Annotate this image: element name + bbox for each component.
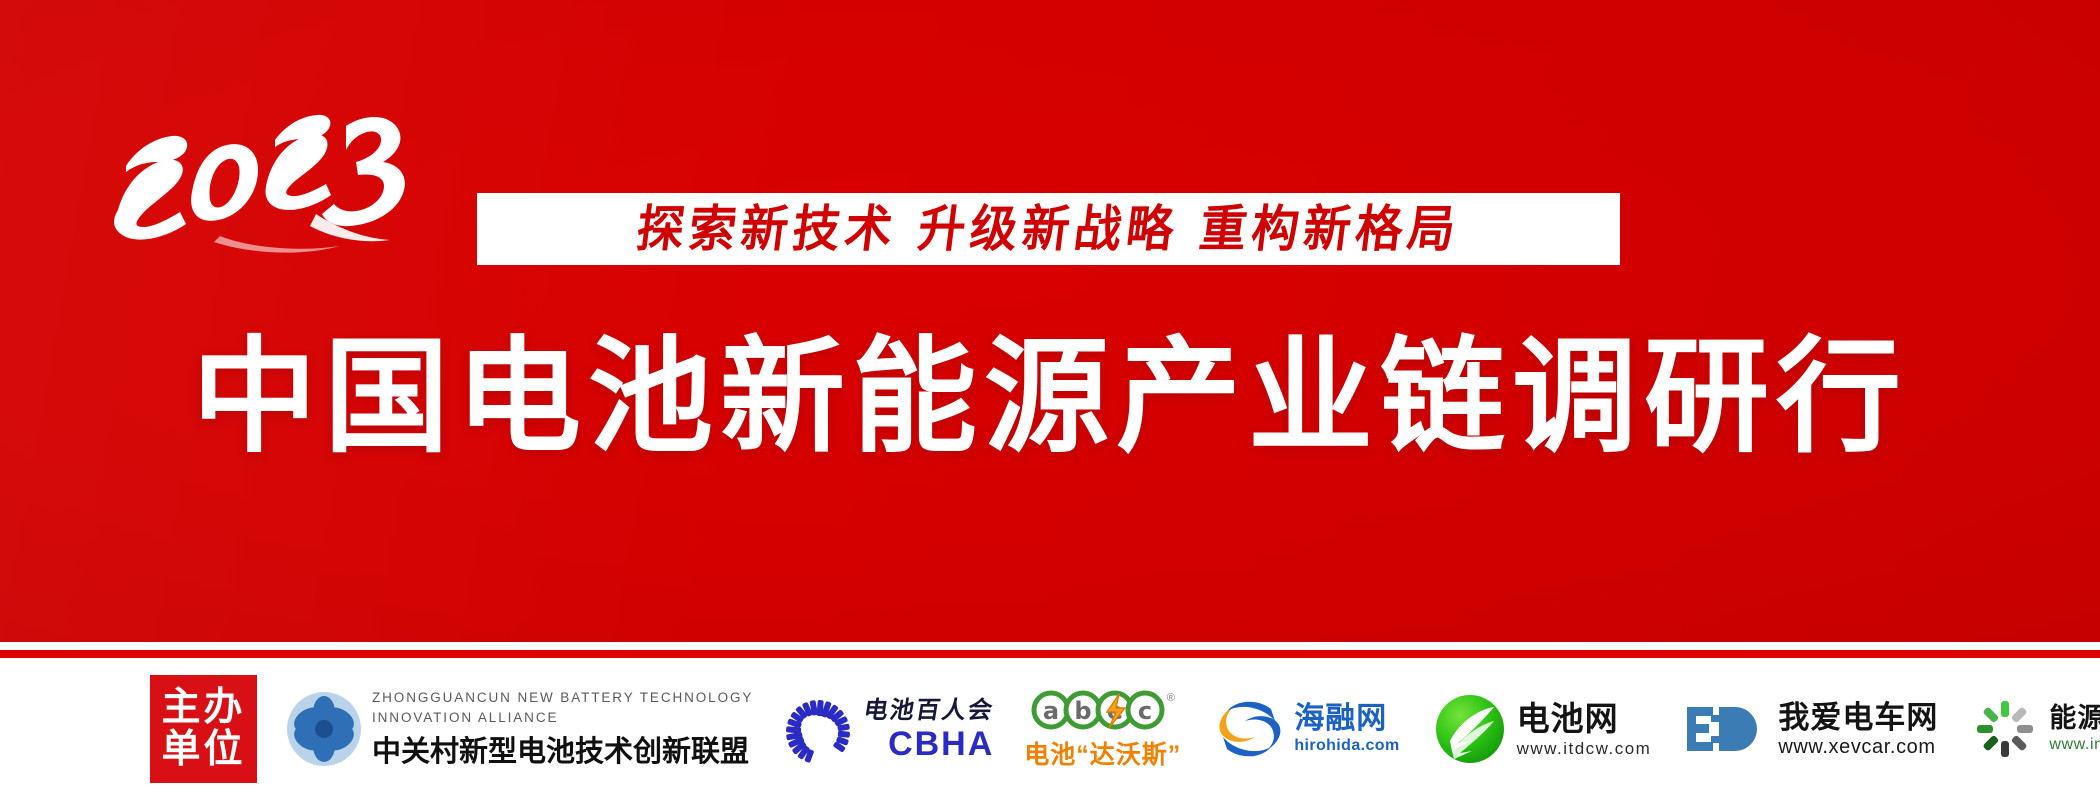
sponsor-logo-hirohida[interactable]: 海融网 hirohida.com [1213, 693, 1399, 765]
radial-burst-icon [781, 692, 855, 766]
cbha-en-name: CBHA [864, 727, 994, 761]
sponsor-logo-xevcar[interactable]: 我爱电车网 www.xevcar.com [1683, 697, 1938, 761]
svg-text:a: a [1043, 697, 1059, 725]
abec-trademark-icon: ® [1167, 692, 1175, 704]
sponsor-logo-zgc-alliance[interactable]: ZHONGGUANCUN NEW BATTERY TECHNOLOGY INNO… [285, 688, 753, 770]
zgc-en-line1: ZHONGGUANCUN NEW BATTERY TECHNOLOGY [372, 688, 753, 708]
hirohida-cn-name: 海融网 [1294, 704, 1399, 734]
event-banner: 探索新技术 升级新战略 重构新格局 中国电池新能源产业链调研行 主办 单位 [0, 0, 2100, 800]
tagline-box: 探索新技术 升级新战略 重构新格局 [477, 193, 1620, 265]
green-sphere-arrow-icon [1432, 691, 1508, 767]
spinner-dots-icon [1970, 694, 2040, 764]
svg-text:c: c [1138, 697, 1152, 725]
sponsor-footer-bar: 主办 单位 ZHO [0, 658, 2100, 800]
sponsor-logo-inewenergy[interactable]: 能源财经网 www.inewenergy.com [1970, 694, 2100, 764]
sponsor-logo-cbha[interactable]: 电池百人会 CBHA [781, 692, 994, 766]
swirl-globe-icon [1213, 693, 1285, 765]
year-2023-brush-logo [100, 92, 430, 242]
host-badge-line1: 主办 [161, 687, 245, 729]
hirohida-en-name: hirohida.com [1294, 738, 1399, 754]
flower-petal-icon [285, 690, 363, 768]
separator-red-stripe [0, 650, 2100, 658]
ed-plug-icon [1683, 697, 1769, 761]
separator-white-gap [0, 642, 2100, 650]
poster-main-title: 中国电池新能源产业链调研行 [0, 320, 2100, 476]
itdcw-en-name: www.itdcw.com [1517, 740, 1652, 757]
cbha-cn-name: 电池百人会 [862, 698, 996, 722]
inewenergy-en-name: www.inewenergy.com [2049, 737, 2100, 753]
svg-text:b: b [1074, 697, 1091, 725]
xevcar-cn-name: 我爱电车网 [1778, 702, 1938, 733]
tagline-text: 探索新技术 升级新战略 重构新格局 [634, 204, 1463, 254]
host-badge-line2: 单位 [161, 729, 245, 771]
zgc-en-line2: INNOVATION ALLIANCE [372, 708, 753, 728]
abec-cn-name: 电池“达沃斯” [1024, 743, 1181, 768]
inewenergy-cn-name: 能源财经网 [2049, 705, 2100, 732]
hero-red-panel: 探索新技术 升级新战略 重构新格局 中国电池新能源产业链调研行 [0, 0, 2100, 642]
itdcw-cn-name: 电池网 [1517, 702, 1652, 735]
host-organizer-badge: 主办 单位 [150, 675, 257, 783]
sponsor-logo-list: ZHONGGUANCUN NEW BATTERY TECHNOLOGY INNO… [257, 688, 2100, 770]
zgc-cn-name: 中关村新型电池技术创新联盟 [372, 728, 753, 770]
xevcar-en-name: www.xevcar.com [1778, 737, 1938, 757]
sponsor-logo-itdcw[interactable]: 电池网 www.itdcw.com [1432, 691, 1652, 767]
sponsor-logo-abec[interactable]: a b e c ® 电池“达沃斯” [1024, 690, 1181, 768]
abec-circles-icon: a b e c [1031, 690, 1165, 730]
